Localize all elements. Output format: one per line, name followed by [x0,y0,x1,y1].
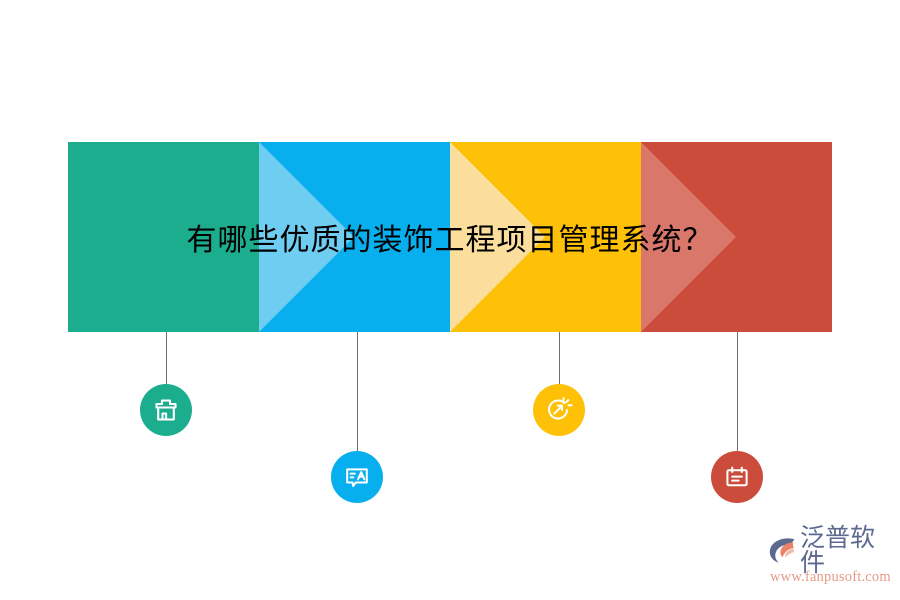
connector-line-growth [559,332,560,384]
page-title: 有哪些优质的装饰工程项目管理系统？ [68,142,832,332]
brand-url: www.fanpusoft.com [768,569,894,586]
connector-line-storefront [166,332,167,384]
storefront-icon [151,395,181,425]
calendar-note-icon [722,462,752,492]
translate-bubble-icon [342,462,372,492]
fanpu-c-swoosh-icon [768,536,798,566]
brand-logo: 泛普软件 www.fanpusoft.com [768,534,894,590]
node-growth[interactable] [533,384,585,436]
growth-arrow-icon [544,395,574,425]
brand-logo-row: 泛普软件 [768,534,894,568]
connector-line-schedule [737,332,738,451]
node-storefront[interactable] [140,384,192,436]
node-schedule[interactable] [711,451,763,503]
node-translate[interactable] [331,451,383,503]
slide-canvas: 有哪些优质的装饰工程项目管理系统？ [0,0,900,600]
connector-line-translate [357,332,358,451]
chevron-banner: 有哪些优质的装饰工程项目管理系统？ [68,142,832,332]
